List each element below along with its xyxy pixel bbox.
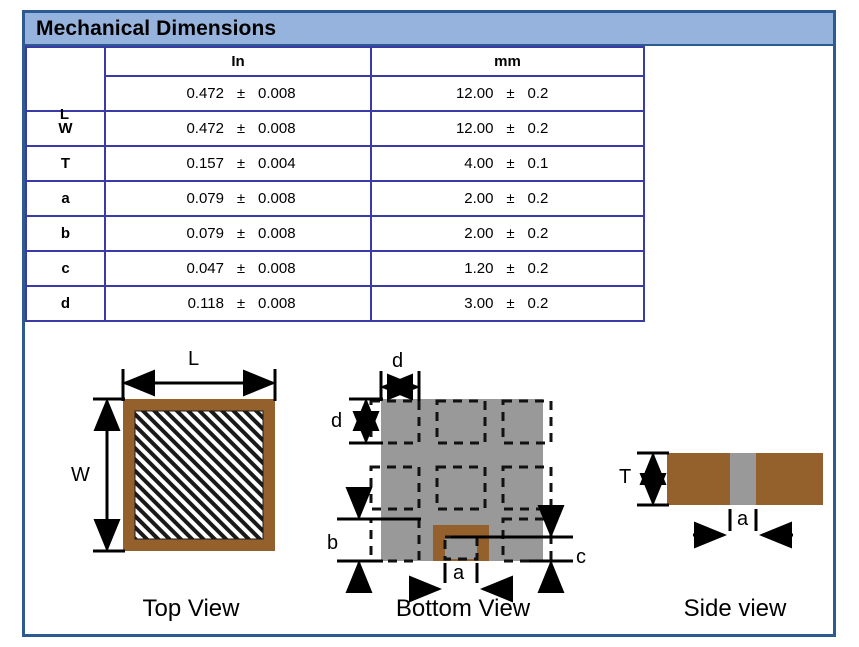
value-tolerance: 0.008 [258, 120, 304, 137]
table-header-row: In mm [26, 47, 644, 76]
value-tolerance: 0.008 [258, 190, 304, 207]
cell-in: 0.472 ± 0.008 [105, 111, 371, 146]
cell-mm: 2.00 ± 0.2 [371, 216, 644, 251]
plus-minus-symbol: ± [224, 260, 258, 277]
value-nominal: 0.472 [172, 85, 224, 102]
plus-minus-symbol: ± [494, 190, 528, 207]
panel-title-bar: Mechanical Dimensions [25, 13, 833, 46]
page-title: Mechanical Dimensions [25, 17, 276, 41]
value-nominal: 1.20 [442, 260, 494, 277]
side-view-drawing: T a [625, 439, 845, 559]
plus-minus-symbol: ± [494, 225, 528, 242]
dimension-label-a: a [737, 509, 748, 529]
dimension-label-d-horizontal: d [392, 351, 403, 371]
cell-mm: 12.00 ± 0.2 [371, 111, 644, 146]
row-label: c [26, 251, 105, 286]
top-view-drawing: L W [75, 357, 305, 587]
dimension-label-T: T [619, 467, 631, 487]
bottom-view-caption: Bottom View [353, 595, 573, 623]
value-nominal: 0.079 [172, 190, 224, 207]
value-tolerance: 0.004 [258, 155, 304, 172]
value-nominal: 0.118 [172, 295, 224, 312]
value-nominal: 4.00 [442, 155, 494, 172]
dimension-label-L: L [188, 349, 199, 369]
row-label: T [26, 146, 105, 181]
table-row: d 0.118 ± 0.008 3.00 ± 0.2 [26, 286, 644, 321]
drawings-area: L W Top View [25, 343, 833, 634]
plus-minus-symbol: ± [224, 85, 258, 102]
table-row: c 0.047 ± 0.008 1.20 ± 0.2 [26, 251, 644, 286]
cell-mm: 3.00 ± 0.2 [371, 286, 644, 321]
value-nominal: 0.157 [172, 155, 224, 172]
plus-minus-symbol: ± [224, 225, 258, 242]
plus-minus-symbol: ± [224, 120, 258, 137]
plus-minus-symbol: ± [494, 155, 528, 172]
row-label: d [26, 286, 105, 321]
cell-mm: 2.00 ± 0.2 [371, 181, 644, 216]
row-label: b [26, 216, 105, 251]
row-label: L [25, 97, 104, 132]
dimension-label-W: W [71, 465, 90, 485]
value-nominal: 2.00 [442, 190, 494, 207]
column-header-mm: mm [371, 47, 644, 76]
value-tolerance: 0.008 [258, 225, 304, 242]
table-row: W 0.472 ± 0.008 12.00 ± 0.2 [26, 111, 644, 146]
table-row: 0.472 ± 0.008 12.00 ± 0.2 [26, 76, 644, 111]
plus-minus-symbol: ± [494, 260, 528, 277]
value-tolerance: 0.008 [258, 260, 304, 277]
cell-in: 0.079 ± 0.008 [105, 216, 371, 251]
column-header-in: In [105, 47, 371, 76]
plus-minus-symbol: ± [224, 295, 258, 312]
value-nominal: 3.00 [442, 295, 494, 312]
value-tolerance: 0.008 [258, 295, 304, 312]
value-tolerance: 0.2 [528, 120, 574, 137]
value-nominal: 12.00 [442, 85, 494, 102]
dimension-label-d-vertical: d [331, 411, 342, 431]
value-nominal: 0.047 [172, 260, 224, 277]
plus-minus-symbol: ± [494, 85, 528, 102]
bottom-view-drawing: d d b c a [333, 357, 593, 597]
datasheet-panel: Mechanical Dimensions In mm 0.472 ± 0.00… [22, 10, 836, 637]
dimension-label-c: c [576, 547, 586, 567]
cell-mm: 12.00 ± 0.2 [371, 76, 644, 111]
value-tolerance: 0.008 [258, 85, 304, 102]
top-view-caption: Top View [77, 595, 305, 623]
value-nominal: 0.472 [172, 120, 224, 137]
value-tolerance: 0.1 [528, 155, 574, 172]
plus-minus-symbol: ± [224, 190, 258, 207]
table-row: T 0.157 ± 0.004 4.00 ± 0.1 [26, 146, 644, 181]
table-row: b 0.079 ± 0.008 2.00 ± 0.2 [26, 216, 644, 251]
cell-mm: 4.00 ± 0.1 [371, 146, 644, 181]
value-nominal: 12.00 [442, 120, 494, 137]
value-tolerance: 0.2 [528, 295, 574, 312]
mechanical-dimensions-page: Mechanical Dimensions In mm 0.472 ± 0.00… [0, 0, 859, 647]
cell-in: 0.079 ± 0.008 [105, 181, 371, 216]
cell-in: 0.047 ± 0.008 [105, 251, 371, 286]
dimension-label-b: b [327, 533, 338, 553]
cell-in: 0.472 ± 0.008 [105, 76, 371, 111]
plus-minus-symbol: ± [494, 295, 528, 312]
mechanical-dimensions-table: In mm 0.472 ± 0.008 12.00 ± [25, 46, 645, 322]
cell-mm: 1.20 ± 0.2 [371, 251, 644, 286]
plus-minus-symbol: ± [494, 120, 528, 137]
value-tolerance: 0.2 [528, 260, 574, 277]
row-label: a [26, 181, 105, 216]
side-view-caption: Side view [625, 595, 845, 623]
cell-in: 0.157 ± 0.004 [105, 146, 371, 181]
value-tolerance: 0.2 [528, 225, 574, 242]
value-nominal: 2.00 [442, 225, 494, 242]
value-tolerance: 0.2 [528, 190, 574, 207]
dimension-label-a: a [453, 563, 464, 583]
cell-in: 0.118 ± 0.008 [105, 286, 371, 321]
table-row: a 0.079 ± 0.008 2.00 ± 0.2 [26, 181, 644, 216]
value-tolerance: 0.2 [528, 85, 574, 102]
value-nominal: 0.079 [172, 225, 224, 242]
plus-minus-symbol: ± [224, 155, 258, 172]
